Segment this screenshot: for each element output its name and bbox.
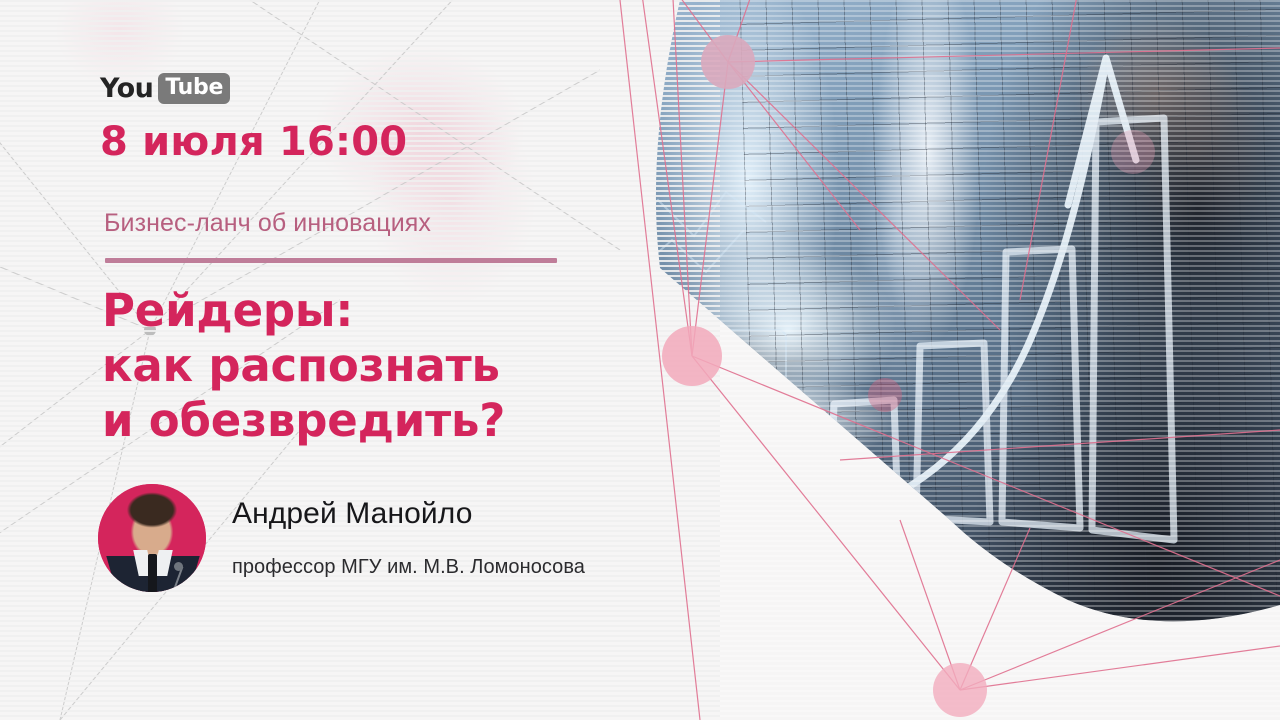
speaker-role: профессор МГУ им. М.В. Ломоносова	[232, 557, 585, 577]
speaker-block: Андрей Манойло профессор МГУ им. М.В. Ло…	[98, 484, 585, 592]
event-kicker: Бизнес-ланч об инновациях	[104, 211, 431, 236]
hero-photo	[598, 0, 1280, 720]
youtube-logo[interactable]: You Tube	[100, 72, 230, 104]
youtube-logo-tube: Tube	[158, 73, 230, 104]
event-datetime: 8 июля 16:00	[100, 122, 407, 162]
event-title-line-2: как распознать	[102, 339, 622, 394]
youtube-logo-you: You	[100, 75, 153, 102]
event-title-line-3: и обезвредить?	[102, 394, 622, 449]
speaker-text: Андрей Манойло профессор МГУ им. М.В. Ло…	[232, 499, 585, 577]
speaker-avatar	[98, 484, 206, 592]
speaker-avatar-tie	[148, 554, 157, 592]
microphone-head-icon	[174, 562, 183, 571]
drawn-growth-chart	[598, 0, 1280, 720]
speaker-name: Андрей Манойло	[232, 499, 585, 529]
event-title-line-1: Рейдеры:	[102, 284, 622, 339]
content-column: You Tube 8 июля 16:00 Бизнес-ланч об инн…	[0, 0, 640, 720]
title-divider	[105, 258, 557, 263]
poster-canvas: You Tube 8 июля 16:00 Бизнес-ланч об инн…	[0, 0, 1280, 720]
event-title: Рейдеры: как распознать и обезвредить?	[102, 284, 622, 449]
